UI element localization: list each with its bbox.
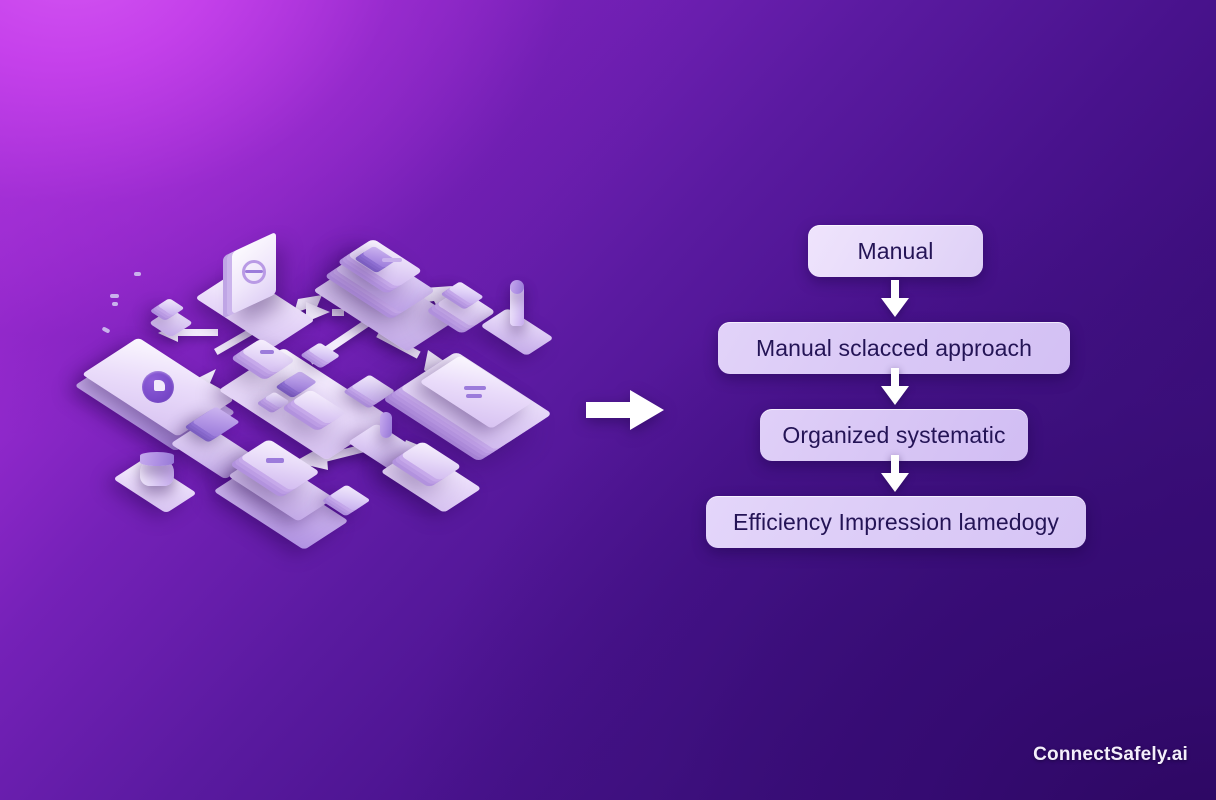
decor-mark-1 xyxy=(110,294,119,298)
flow-arrow-1-icon xyxy=(880,280,910,318)
flow-step-2[interactable]: Manual sclacced approach xyxy=(718,322,1070,374)
watermark-logo: ConnectSafely.ai xyxy=(1033,744,1188,766)
flow-step-3-label: Organized systematic xyxy=(782,422,1005,449)
decor-mark-4 xyxy=(134,272,141,276)
cylinder-top xyxy=(140,452,174,466)
decor-mark-2 xyxy=(112,302,118,306)
flow-step-1-label: Manual xyxy=(857,238,933,265)
decor-mark-3 xyxy=(102,326,111,333)
small-cube-bottom xyxy=(329,485,370,512)
flow-arrow-3-icon xyxy=(880,455,910,493)
infographic-canvas: Manual Manual sclacced approach Organize… xyxy=(0,0,1216,800)
flow-step-2-label: Manual sclacced approach xyxy=(756,335,1032,362)
isometric-network-illustration xyxy=(90,236,560,536)
flow-step-1[interactable]: Manual xyxy=(808,225,983,277)
bottom-pin-post xyxy=(380,412,392,438)
document-card-icon-bar xyxy=(245,270,263,273)
transition-arrow xyxy=(586,388,664,432)
pin-marker-head xyxy=(510,280,524,294)
hub-object-screen-mark xyxy=(260,350,274,354)
process-flow: Manual Manual sclacced approach Organize… xyxy=(690,210,1100,550)
tablet-text-line-1 xyxy=(464,386,486,390)
tablet-text-line-2 xyxy=(466,394,482,398)
badge-card-icon-mark xyxy=(154,380,165,391)
flow-step-3[interactable]: Organized systematic xyxy=(760,409,1028,461)
stacked-platform-line-1 xyxy=(382,258,402,262)
flow-step-4[interactable]: Efficiency Impression lamedogy xyxy=(706,496,1086,548)
flow-arrow-2-icon xyxy=(880,368,910,406)
tier-stack-mark xyxy=(266,458,284,463)
flow-step-4-label: Efficiency Impression lamedogy xyxy=(733,509,1059,536)
